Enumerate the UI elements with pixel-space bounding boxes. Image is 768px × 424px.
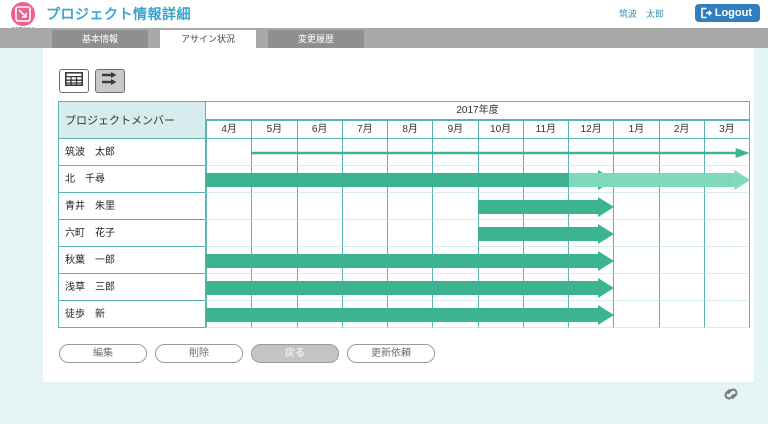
back-button[interactable]: 戻る [251,344,339,363]
month-header-cell: 11月 [524,120,569,139]
gantt-bar[interactable] [478,224,614,244]
delete-button[interactable]: 削除 [155,344,243,363]
member-name-cell: 六町 花子 [58,220,206,247]
gantt-chart: プロジェクトメンバー 2017年度 4月5月6月7月8月9月10月11月12月1… [58,101,750,328]
tab-bar: 基本情報 アサイン状況 変更履歴 [0,28,768,48]
grid-cell [705,301,750,328]
grid-cell [660,247,705,274]
grid-cell [252,193,297,220]
month-header-cell: 3月 [705,120,750,139]
member-name-cell: 浅草 三郎 [58,274,206,301]
logout-label: Logout [715,4,752,22]
month-header-cell: 10月 [479,120,524,139]
grid-cell [660,193,705,220]
grid-cell [343,193,388,220]
grid-cell [206,220,252,247]
grid-cell [705,247,750,274]
grid-cell [705,274,750,301]
month-header-cell: 6月 [298,120,343,139]
grid-cell [388,193,433,220]
month-header-cell: 4月 [206,120,252,139]
grid-cell [252,220,297,247]
swap-view-button[interactable] [95,69,125,93]
update-request-button[interactable]: 更新依頼 [347,344,435,363]
gantt-bar[interactable] [206,305,614,325]
user-name: 筑波 太郎 [619,7,664,20]
grid-cell [614,247,659,274]
logout-icon [700,7,712,19]
grid-cell [206,139,252,166]
member-name-cell: 北 千尋 [58,166,206,193]
gantt-bar[interactable] [206,251,614,271]
grid-cell [660,274,705,301]
view-toolbar [59,69,125,93]
month-header-cell: 5月 [252,120,297,139]
gantt-bar[interactable] [478,197,614,217]
swap-arrows-icon [101,71,119,91]
gantt-header: プロジェクトメンバー 2017年度 4月5月6月7月8月9月10月11月12月1… [58,101,750,139]
gantt-bar[interactable] [569,170,750,190]
grid-cell [433,193,478,220]
grid-cell [705,220,750,247]
grid-cell [705,193,750,220]
month-header-cell: 1月 [614,120,659,139]
month-header-cell: 7月 [343,120,388,139]
content-panel: プロジェクトメンバー 2017年度 4月5月6月7月8月9月10月11月12月1… [43,48,754,382]
member-name-cell: 秋葉 一郎 [58,247,206,274]
grid-cell [343,220,388,247]
grid-cell [614,220,659,247]
year-header: 2017年度 [206,101,750,120]
grid-cell [614,193,659,220]
grid-cell [298,193,343,220]
tab-change-history[interactable]: 変更履歴 [268,30,364,48]
gantt-body: 筑波 太郎北 千尋青井 朱里六町 花子秋葉 一郎浅草 三郎徒歩 新 [58,139,750,328]
app-header: MENU プロジェクト情報詳細 筑波 太郎 Logout [0,0,768,28]
grid-cell [660,220,705,247]
grid-cell [660,301,705,328]
grid-cell [614,301,659,328]
action-buttons: 編集 削除 戻る 更新依頼 [59,344,435,363]
gantt-bar[interactable] [251,148,750,158]
month-header-row: 4月5月6月7月8月9月10月11月12月1月2月3月 [206,120,750,139]
logout-button[interactable]: Logout [695,4,760,22]
grid-cell [614,274,659,301]
month-header-cell: 8月 [388,120,433,139]
tab-assignment-status[interactable]: アサイン状況 [160,30,256,48]
grid-cell [388,220,433,247]
member-name-cell: 徒歩 新 [58,301,206,328]
table-row[interactable]: 六町 花子 [58,220,750,247]
menu-icon [11,2,35,26]
month-header-cell: 2月 [660,120,705,139]
table-view-button[interactable] [59,69,89,93]
gantt-bar[interactable] [206,278,614,298]
month-header-cell: 9月 [433,120,478,139]
edit-button[interactable]: 編集 [59,344,147,363]
page-title: プロジェクト情報詳細 [46,4,191,24]
gantt-bar[interactable] [206,170,614,190]
member-name-cell: 青井 朱里 [58,193,206,220]
member-column-header: プロジェクトメンバー [58,101,206,139]
grid-cell [298,220,343,247]
grid-cell [433,220,478,247]
chain-link-icon[interactable] [720,385,742,408]
month-header-cell: 12月 [569,120,614,139]
tab-basic-info[interactable]: 基本情報 [52,30,148,48]
table-grid-icon [65,72,83,91]
member-name-cell: 筑波 太郎 [58,139,206,166]
table-row[interactable]: 青井 朱里 [58,193,750,220]
grid-cell [206,193,252,220]
